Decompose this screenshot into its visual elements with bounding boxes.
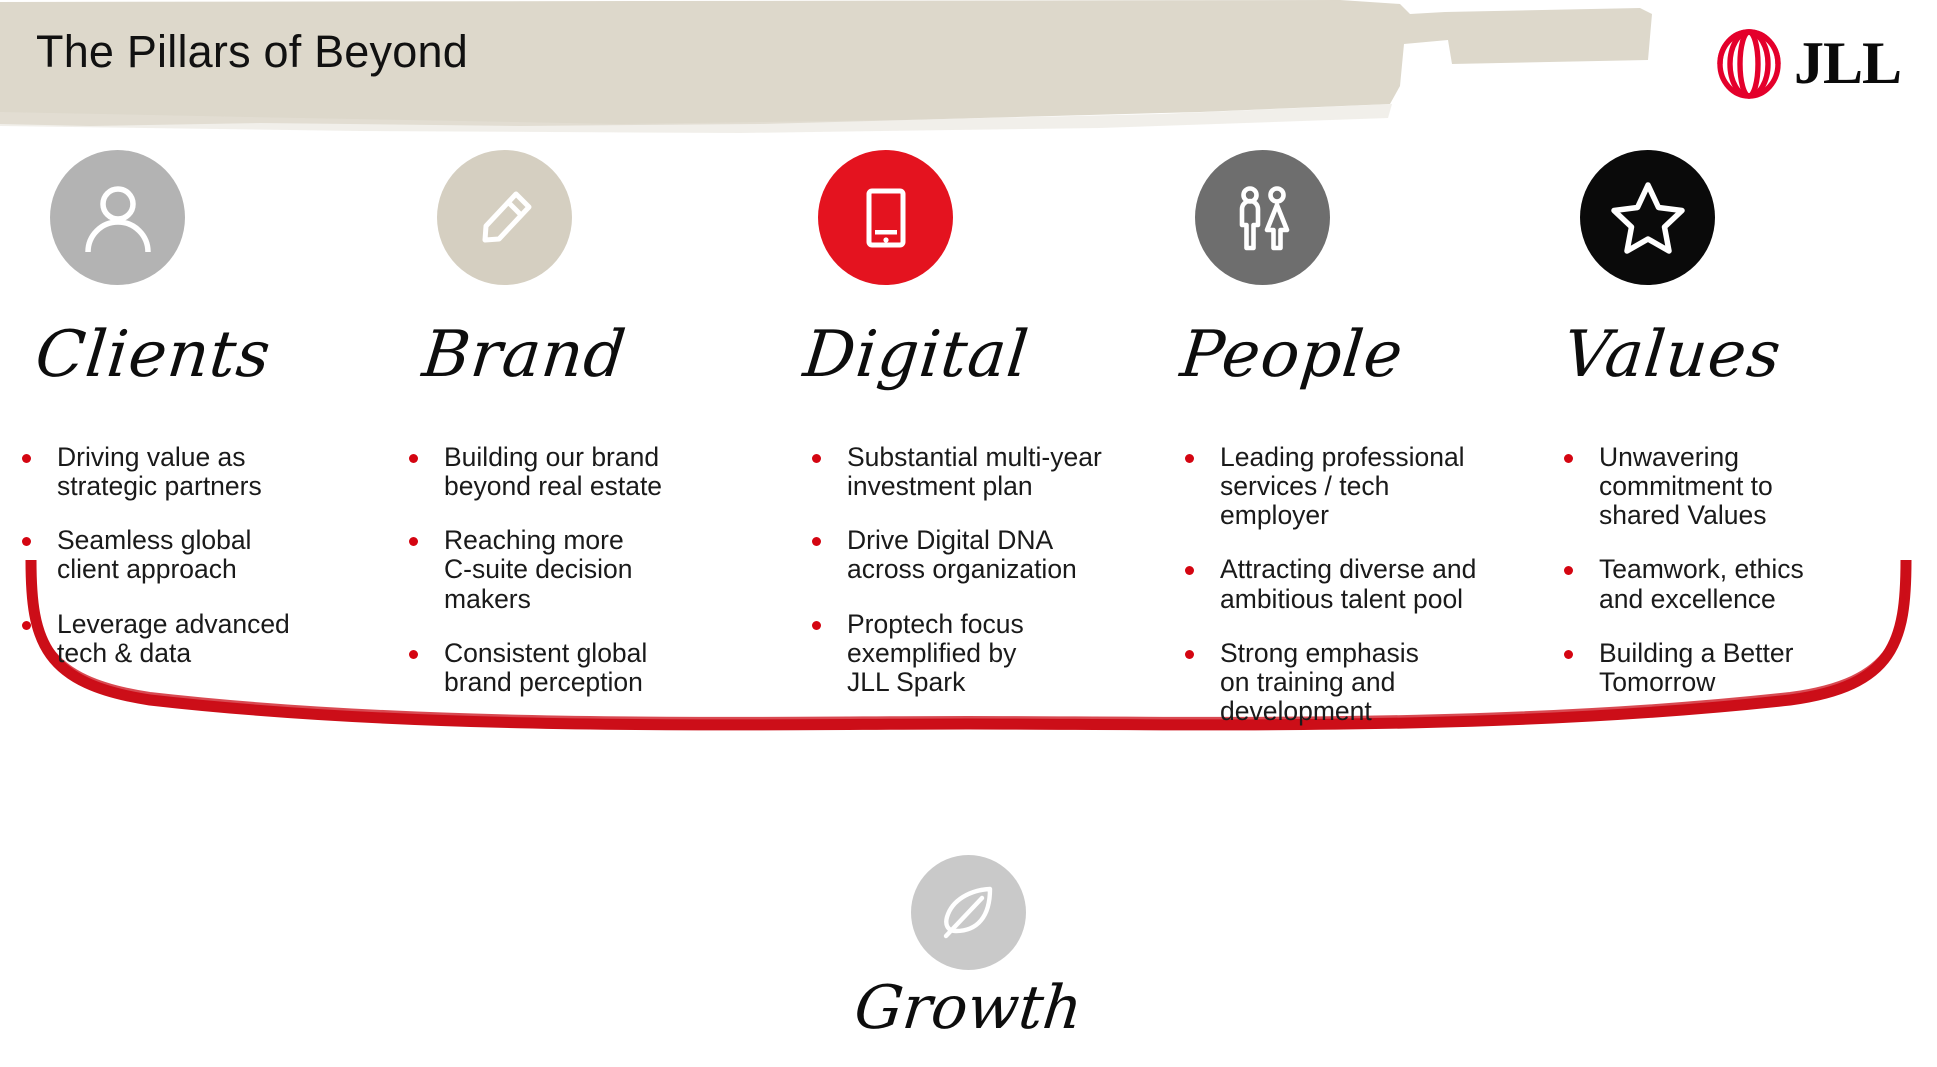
list-item: Seamless global client approach — [22, 526, 379, 584]
bullet-text: Driving value as strategic partners — [57, 443, 262, 501]
pillar-brand[interactable]: Brand Building our brand beyond real est… — [387, 150, 774, 850]
list-item: Attracting diverse and ambitious talent … — [1185, 555, 1540, 613]
bullet-dot-icon — [812, 454, 821, 463]
pillar-clients-heading: Clients — [33, 323, 383, 387]
bullet-dot-icon — [1564, 650, 1573, 659]
pillar-digital-heading: Digital — [801, 323, 1157, 387]
pillar-values-bullets: Unwavering commitment to shared Values T… — [1564, 443, 1927, 697]
list-item: Substantial multi-year investment plan — [812, 443, 1153, 501]
pillar-values[interactable]: Values Unwavering commitment to shared V… — [1548, 150, 1935, 850]
bullet-text: Building a Better Tomorrow — [1599, 639, 1793, 697]
pillar-digital[interactable]: Digital Substantial multi-year investmen… — [774, 150, 1161, 850]
bullet-dot-icon — [812, 537, 821, 546]
bullet-text: Leverage advanced tech & data — [57, 610, 290, 668]
bullet-text: Leading professional services / tech emp… — [1220, 443, 1465, 530]
bullet-dot-icon — [409, 454, 418, 463]
bullet-text: Strong emphasis on training and developm… — [1220, 639, 1419, 726]
pillar-values-heading: Values — [1561, 323, 1931, 387]
bullet-text: Attracting diverse and ambitious talent … — [1220, 555, 1476, 613]
leaf-icon — [932, 876, 1006, 950]
pillar-people-heading: People — [1178, 323, 1544, 387]
list-item: Reaching more C-suite decision makers — [409, 526, 766, 613]
growth-hub[interactable]: Growth — [799, 855, 1139, 1038]
two-people-icon — [1223, 178, 1303, 258]
tablet-device-icon — [846, 178, 926, 258]
pillar-clients-bullets: Driving value as strategic partners Seam… — [22, 443, 379, 668]
bullet-dot-icon — [1564, 454, 1573, 463]
bullet-text: Seamless global client approach — [57, 526, 251, 584]
bullet-dot-icon — [1564, 566, 1573, 575]
growth-icon-circle — [911, 855, 1026, 970]
list-item: Drive Digital DNA across organization — [812, 526, 1153, 584]
bullet-text: Unwavering commitment to shared Values — [1599, 443, 1773, 530]
page-title: The Pillars of Beyond — [36, 26, 468, 78]
pillar-people-bullets: Leading professional services / tech emp… — [1185, 443, 1540, 726]
bullet-text: Proptech focus exemplified by JLL Spark — [847, 610, 1024, 697]
pillar-clients-icon-circle — [50, 150, 185, 285]
list-item: Driving value as strategic partners — [22, 443, 379, 501]
pillar-brand-bullets: Building our brand beyond real estate Re… — [409, 443, 766, 697]
pillar-brand-icon-circle — [437, 150, 572, 285]
list-item: Strong emphasis on training and developm… — [1185, 639, 1540, 726]
jll-ribbon-mark — [1710, 28, 1788, 100]
list-item: Building a Better Tomorrow — [1564, 639, 1927, 697]
bullet-text: Building our brand beyond real estate — [444, 443, 662, 501]
list-item: Leverage advanced tech & data — [22, 610, 379, 668]
pillar-clients[interactable]: Clients Driving value as strategic partn… — [0, 150, 387, 850]
pencil-icon — [465, 178, 545, 258]
bullet-dot-icon — [812, 621, 821, 630]
bullet-text: Teamwork, ethics and excellence — [1599, 555, 1804, 613]
pillar-values-icon-circle — [1580, 150, 1715, 285]
person-icon — [78, 178, 158, 258]
bullet-dot-icon — [22, 621, 31, 630]
list-item: Proptech focus exemplified by JLL Spark — [812, 610, 1153, 697]
list-item: Building our brand beyond real estate — [409, 443, 766, 501]
pillar-digital-bullets: Substantial multi-year investment plan D… — [812, 443, 1153, 697]
list-item: Leading professional services / tech emp… — [1185, 443, 1540, 530]
pillar-people-icon-circle — [1195, 150, 1330, 285]
bullet-text: Consistent global brand perception — [444, 639, 647, 697]
pillars-row: Clients Driving value as strategic partn… — [0, 150, 1937, 850]
bullet-dot-icon — [1185, 650, 1194, 659]
bullet-dot-icon — [22, 454, 31, 463]
bullet-dot-icon — [1185, 454, 1194, 463]
star-icon — [1606, 176, 1690, 260]
bullet-dot-icon — [409, 537, 418, 546]
list-item: Consistent global brand perception — [409, 639, 766, 697]
list-item: Teamwork, ethics and excellence — [1564, 555, 1927, 613]
pillar-digital-icon-circle — [818, 150, 953, 285]
bullet-text: Reaching more C-suite decision makers — [444, 526, 633, 613]
list-item: Unwavering commitment to shared Values — [1564, 443, 1927, 530]
pillar-brand-heading: Brand — [420, 323, 770, 387]
bullet-text: Drive Digital DNA across organization — [847, 526, 1077, 584]
jll-wordmark: JLL — [1794, 36, 1901, 91]
bullet-dot-icon — [1185, 566, 1194, 575]
slide-canvas: The Pillars of Beyond JLL Clie — [0, 0, 1937, 1067]
bullet-text: Substantial multi-year investment plan — [847, 443, 1102, 501]
pillar-people[interactable]: People Leading professional services / t… — [1161, 150, 1548, 850]
bullet-dot-icon — [22, 537, 31, 546]
growth-label: Growth — [852, 978, 1085, 1038]
jll-logo: JLL — [1710, 28, 1901, 100]
bullet-dot-icon — [409, 650, 418, 659]
